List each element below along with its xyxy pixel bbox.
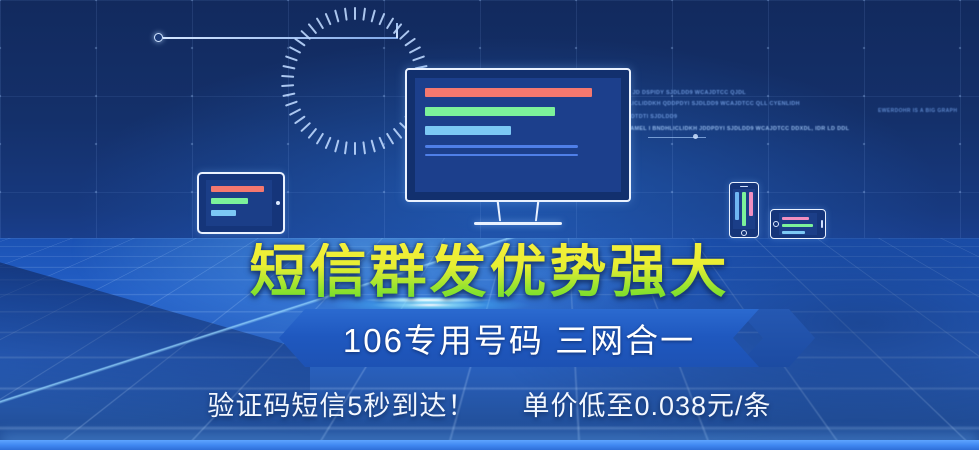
- phone-horizontal-bar-1: [782, 217, 809, 220]
- tablet-home-button-icon: [276, 201, 280, 205]
- phone-horizontal-home-button-icon: [773, 221, 779, 227]
- tablet-bar-2: [211, 198, 248, 204]
- tablet-bar-1: [211, 186, 264, 192]
- phone-horizontal-illustration: [770, 209, 826, 239]
- phone-vertical-illustration: [729, 182, 759, 238]
- tablet-screen: [206, 180, 272, 226]
- phone-vertical-bar-2: [742, 192, 746, 226]
- phone-home-button-icon: [741, 230, 747, 236]
- decor-code-line-4: SJLC TAMEL I BNDHLICLIDKH JDDPDYI SJDLDD…: [610, 124, 849, 135]
- tablet-illustration: [197, 172, 285, 234]
- ribbon-label: 106专用号码 三网合一: [343, 314, 695, 362]
- phone-vertical-bar-3: [749, 192, 753, 216]
- network-node-icon: [154, 33, 163, 42]
- monitor-bar-3: [425, 126, 511, 135]
- decor-dot-icon: [693, 134, 698, 139]
- phone-vertical-screen: [733, 189, 755, 229]
- tablet-bar-3: [211, 210, 236, 216]
- phone-horizontal-bar-3: [782, 231, 805, 234]
- desktop-monitor-illustration: [405, 68, 631, 224]
- monitor-line-2: [425, 154, 578, 157]
- monitor-bar-2: [425, 107, 555, 116]
- monitor-bar-1: [425, 88, 592, 97]
- monitor-line-1: [425, 145, 578, 148]
- promo-banner: SD 90 JD DSPIDY SJDLDD9 WCAJDTCC QJDL I …: [0, 0, 979, 450]
- phone-vertical-bar-1: [735, 192, 739, 220]
- decor-code-line-2: I BNDHLICLIDDKH QDDPDYI SJDLDD9 WCAJDTCC…: [608, 99, 800, 110]
- decor-code-line-1: SD 90 JD DSPIDY SJDLDD9 WCAJDTCC QJDL: [614, 88, 746, 99]
- subtitle: 验证码短信5秒到达！ 单价低至0.038元/条: [0, 384, 979, 423]
- ribbon-banner: 106专用号码 三网合一: [279, 309, 759, 367]
- page-title: 短信群发优势强大: [0, 243, 979, 303]
- subtitle-right: 单价低至0.038元/条: [522, 391, 771, 421]
- phone-horizontal-screen: [779, 213, 817, 235]
- monitor-stand-base: [474, 222, 562, 225]
- subtitle-left: 验证码短信5秒到达！: [207, 391, 475, 421]
- monitor-screen: [415, 78, 621, 192]
- phone-horizontal-bar-2: [782, 224, 813, 227]
- monitor-stand-neck: [405, 202, 631, 224]
- bottom-accent-strip: [0, 440, 979, 450]
- monitor-frame: [405, 68, 631, 202]
- phone-speaker-icon: [740, 186, 748, 188]
- decor-code-line-right: EWERDOHR IS A BIG GRAPH: [878, 108, 957, 114]
- phone-horizontal-speaker-icon: [821, 220, 823, 228]
